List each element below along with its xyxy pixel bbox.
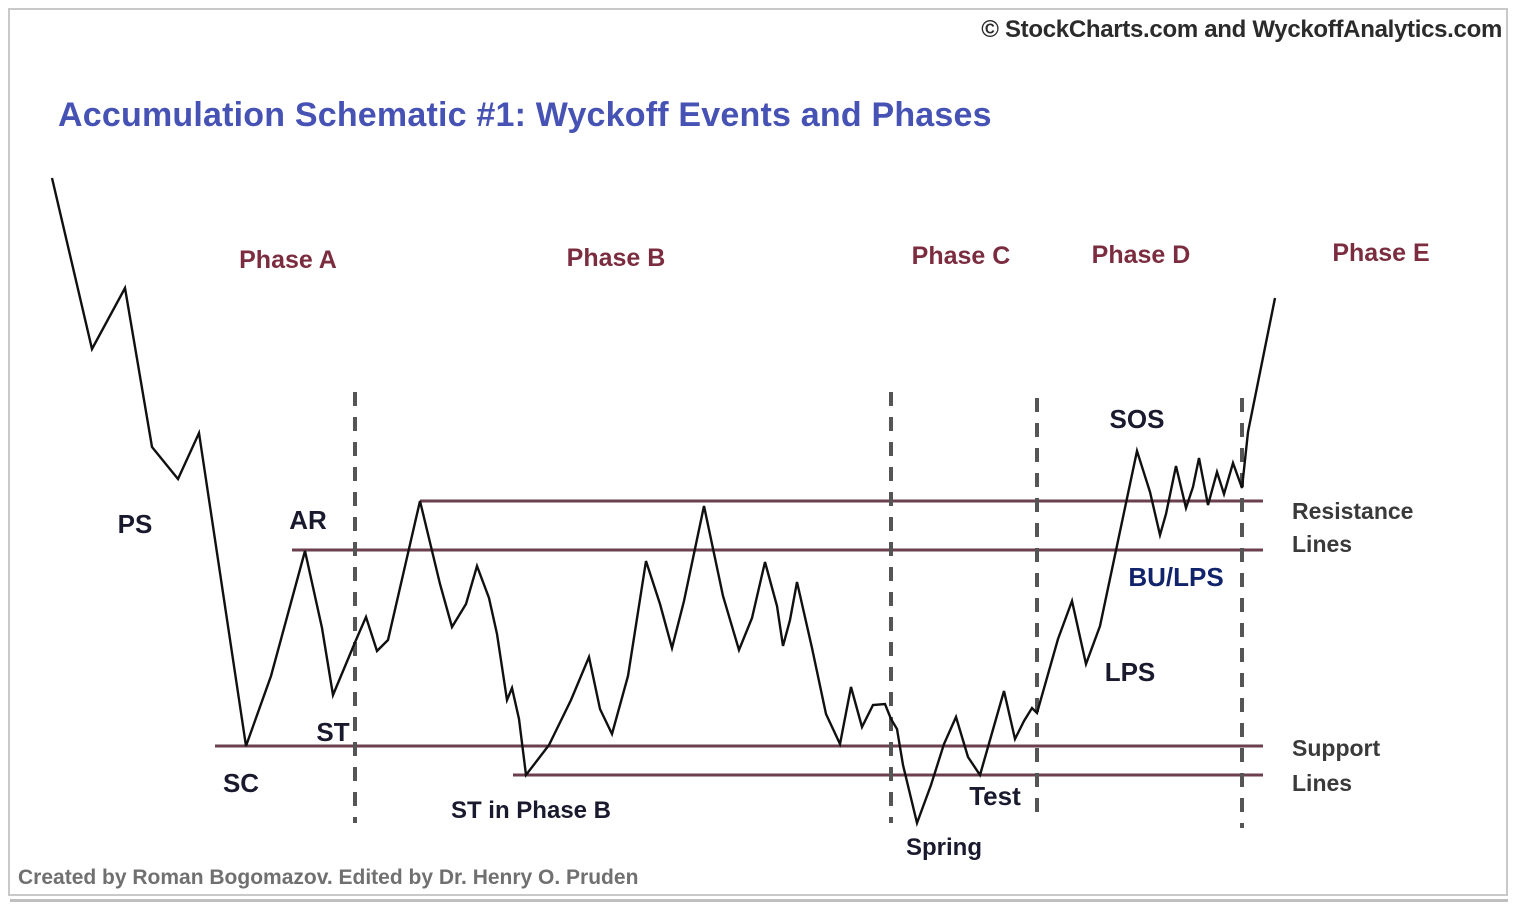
phase-label-phase-b: Phase B xyxy=(567,244,666,272)
event-label-test: Test xyxy=(969,781,1021,811)
event-label-st: ST xyxy=(316,717,349,747)
phase-labels: Phase APhase BPhase CPhase DPhase E xyxy=(239,239,1430,274)
side-label-lines: Lines xyxy=(1292,770,1352,796)
phase-label-phase-a: Phase A xyxy=(239,246,337,274)
side-label-support: Support xyxy=(1292,735,1380,761)
event-label-ps: PS xyxy=(118,509,153,539)
event-label-spring: Spring xyxy=(906,834,982,861)
event-label-sos: SOS xyxy=(1110,404,1165,434)
event-label-lps: LPS xyxy=(1105,657,1156,687)
event-label-ar: AR xyxy=(289,505,327,535)
side-label-lines: Lines xyxy=(1292,531,1352,557)
phase-label-phase-c: Phase C xyxy=(912,242,1011,270)
footer-divider xyxy=(10,899,1508,902)
author-credit: Created by Roman Bogomazov. Edited by Dr… xyxy=(18,866,638,890)
line-legend-labels: ResistanceLinesSupportLines xyxy=(1292,498,1413,796)
phase-label-phase-d: Phase D xyxy=(1092,241,1191,269)
wyckoff-chart: Phase APhase BPhase CPhase DPhase E PSAR… xyxy=(0,0,1518,912)
phase-divider-lines xyxy=(355,392,1242,828)
event-label-st-in-phase-b: ST in Phase B xyxy=(451,797,611,824)
event-label-sc: SC xyxy=(223,768,259,798)
event-label-bu-lps: BU/LPS xyxy=(1128,562,1223,592)
wyckoff-schematic-page: © StockCharts.com and WyckoffAnalytics.c… xyxy=(0,0,1518,912)
phase-label-phase-e: Phase E xyxy=(1332,239,1429,267)
side-label-resistance: Resistance xyxy=(1292,498,1413,524)
